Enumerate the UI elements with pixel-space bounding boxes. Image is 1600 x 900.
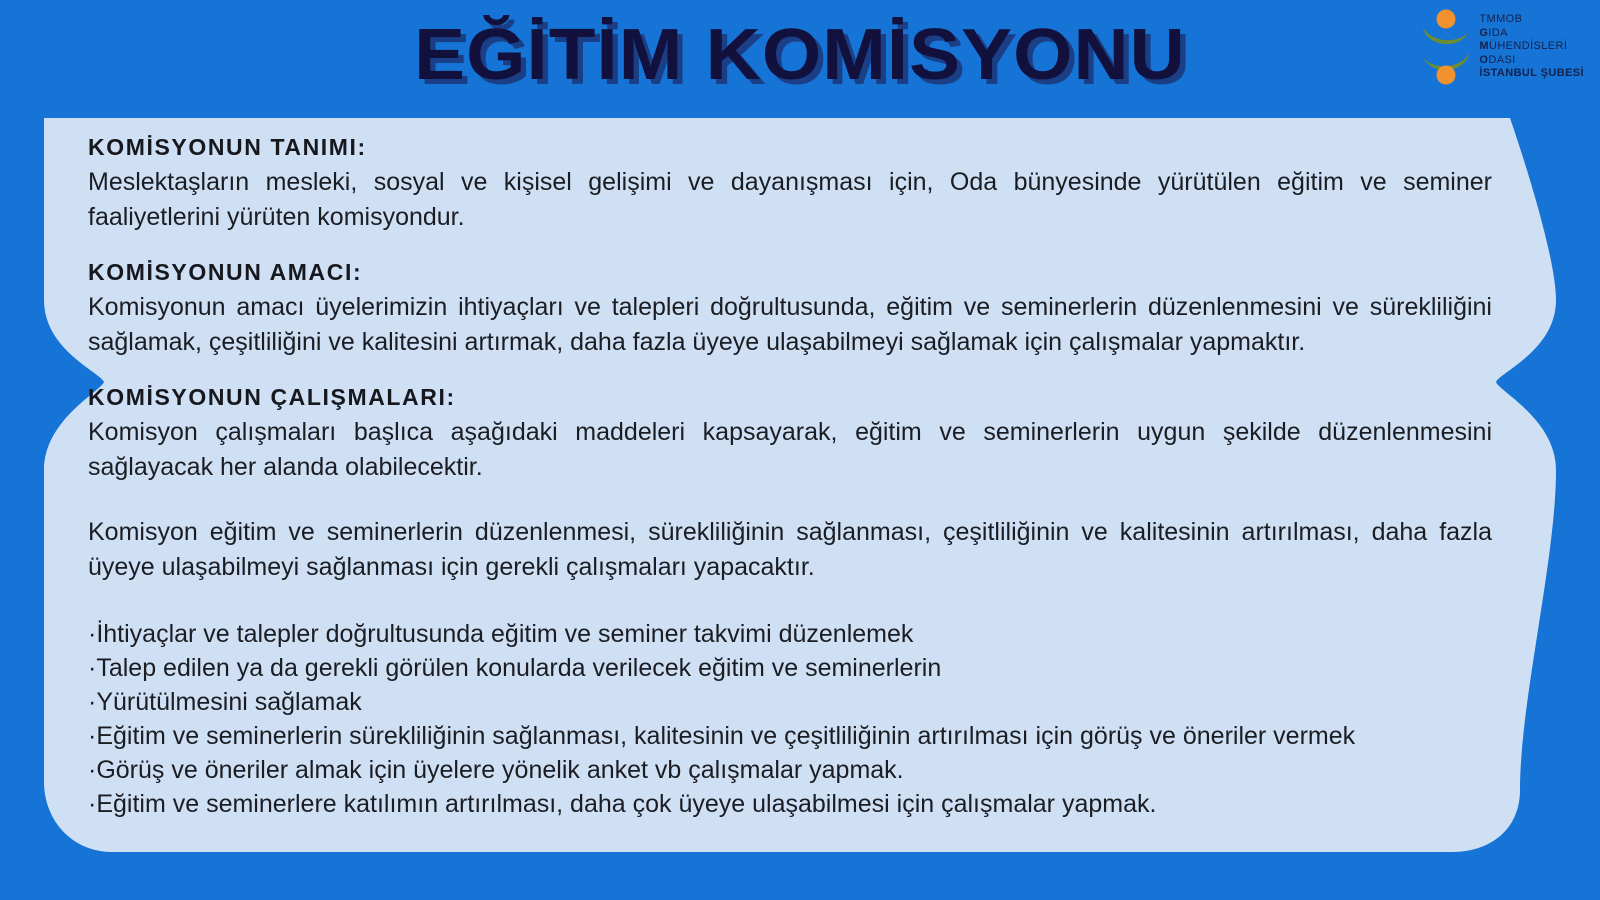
logo-line: GIDA: [1479, 27, 1584, 41]
logo-line: İSTANBUL ŞUBESİ: [1479, 67, 1584, 81]
bullet-text: Talep edilen ya da gerekli görülen konul…: [96, 654, 941, 682]
work-items-list: ·İhtiyaçlar ve talepler doğrultusunda eğ…: [88, 617, 1492, 821]
logo-line: TMMOB: [1479, 13, 1584, 27]
section-paragraph: Komisyon çalışmaları başlıca aşağıdaki m…: [88, 415, 1492, 485]
section-komisyonun-amaci: KOMİSYONUN AMACI: Komisyonun amacı üyele…: [88, 257, 1492, 360]
section-heading: KOMİSYONUN ÇALIŞMALARI:: [88, 382, 1492, 412]
logo-line-rest: DASI: [1488, 54, 1515, 66]
list-item: ·İhtiyaçlar ve talepler doğrultusunda eğ…: [88, 617, 1492, 651]
section-heading: KOMİSYONUN TANIMI:: [88, 132, 1492, 162]
logo-line-cap: M: [1479, 40, 1489, 52]
list-item: ·Yürütülmesini sağlamak: [88, 685, 1492, 719]
slide: EĞİTİM KOMİSYONU TMMOB GIDA MÜHENDİSLERİ…: [0, 0, 1600, 900]
list-item: ·Eğitim ve seminerlerin sürekliliğinin s…: [88, 719, 1492, 753]
bullet-text: Eğitim ve seminerlerin sürekliliğinin sa…: [96, 722, 1355, 750]
section-paragraph: Meslektaşların mesleki, sosyal ve kişise…: [88, 165, 1492, 235]
organization-logo: TMMOB GIDA MÜHENDİSLERİ ODASI İSTANBUL Ş…: [1419, 8, 1584, 86]
bullet-text: Yürütülmesini sağlamak: [96, 688, 361, 716]
section-paragraph: Komisyon eğitim ve seminerlerin düzenlen…: [88, 515, 1492, 585]
page-title: EĞİTİM KOMİSYONU: [0, 14, 1600, 96]
list-item: ·Görüş ve öneriler almak için üyelere yö…: [88, 753, 1492, 787]
bullet-text: Görüş ve öneriler almak için üyelere yön…: [96, 756, 903, 784]
list-item: ·Talep edilen ya da gerekli görülen konu…: [88, 651, 1492, 685]
bullet-text: Eğitim ve seminerlere katılımın artırılm…: [96, 790, 1156, 818]
logo-line-rest: TMMOB: [1479, 13, 1522, 25]
logo-line: MÜHENDİSLERİ: [1479, 40, 1584, 54]
list-item: ·Eğitim ve seminerlere katılımın artırıl…: [88, 787, 1492, 821]
logo-line-rest: ÜHENDİSLERİ: [1489, 40, 1567, 52]
tmmob-figure-icon: [1419, 8, 1473, 86]
section-paragraph: Komisyonun amacı üyelerimizin ihtiyaçlar…: [88, 290, 1492, 360]
logo-line-cap: G: [1479, 27, 1488, 39]
logo-wordmark: TMMOB GIDA MÜHENDİSLERİ ODASI İSTANBUL Ş…: [1479, 13, 1584, 81]
slide-header: EĞİTİM KOMİSYONU TMMOB GIDA MÜHENDİSLERİ…: [0, 0, 1600, 112]
section-heading: KOMİSYONUN AMACI:: [88, 257, 1492, 287]
logo-line-rest: İSTANBUL ŞUBESİ: [1479, 67, 1584, 79]
logo-line-cap: O: [1479, 54, 1488, 66]
logo-line: ODASI: [1479, 54, 1584, 68]
card-body: KOMİSYONUN TANIMI: Meslektaşların meslek…: [88, 132, 1492, 850]
section-komisyonun-tanimi: KOMİSYONUN TANIMI: Meslektaşların meslek…: [88, 132, 1492, 235]
section-komisyonun-calismalari: KOMİSYONUN ÇALIŞMALARI: Komisyon çalışma…: [88, 382, 1492, 821]
logo-line-rest: IDA: [1488, 27, 1508, 39]
bullet-text: İhtiyaçlar ve talepler doğrultusunda eği…: [96, 620, 913, 648]
